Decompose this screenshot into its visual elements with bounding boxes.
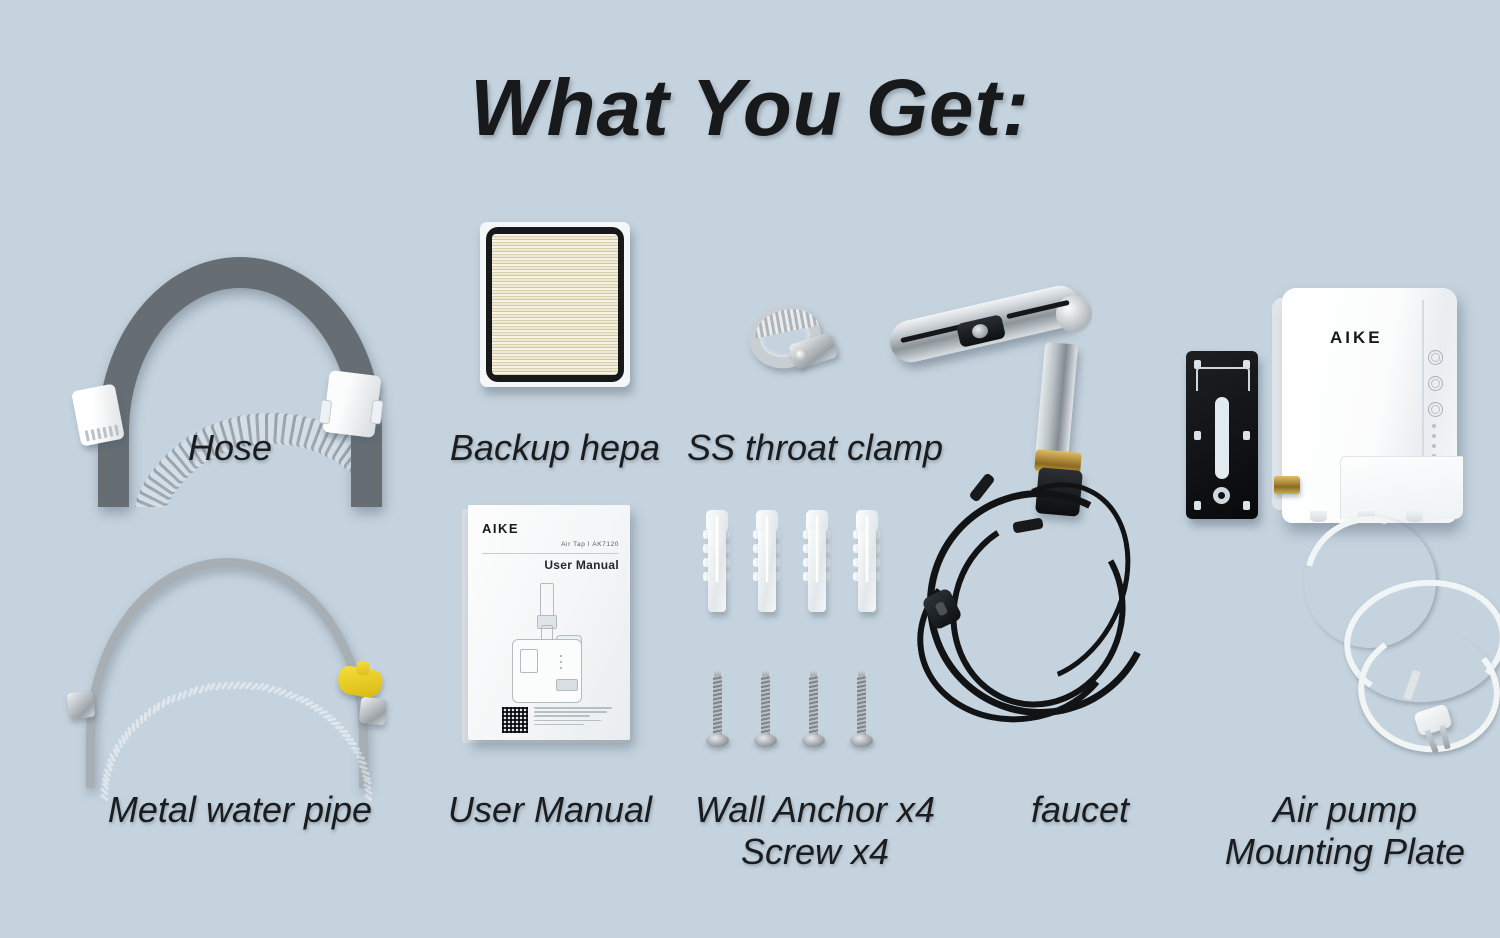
braid-texture — [86, 558, 368, 788]
manual-brand-logo: AIKE — [482, 521, 519, 536]
backup-hepa-image — [480, 222, 630, 387]
wall-anchor — [804, 504, 830, 612]
manual-title: User Manual — [544, 558, 619, 572]
pump-body: AIKE — [1282, 288, 1457, 523]
screw — [706, 670, 728, 758]
metal-water-pipe-image — [60, 540, 410, 740]
manual-cover: AIKE Air Tap I AK7120 User Manual — [468, 505, 630, 740]
label-backup-hepa: Backup hepa — [415, 428, 695, 469]
label-user-manual: User Manual — [430, 790, 670, 831]
fan-speed-icon[interactable] — [1428, 402, 1443, 417]
label-wall-anchor: Wall Anchor x4 — [665, 790, 965, 831]
air-pump-image: AIKE — [1272, 280, 1467, 530]
product-contents-poster: What You Get: Hose Backup hepa SS throat… — [0, 0, 1500, 938]
manual-product-illustration — [494, 583, 606, 695]
label-hose: Hose — [120, 428, 340, 469]
screw — [754, 670, 776, 758]
wall-anchors-image — [700, 500, 900, 618]
manual-qr-code — [502, 707, 528, 733]
pipe-nut-left — [67, 691, 96, 720]
plate-keyhole — [1213, 487, 1230, 504]
air-pump-mounting-plate-image — [1186, 351, 1258, 519]
wall-anchor — [704, 504, 730, 612]
air-pump-power-cord — [1300, 520, 1500, 760]
screws-image — [700, 670, 890, 762]
faucet-stem — [1035, 342, 1078, 462]
pump-brand-logo: AIKE — [1330, 328, 1383, 348]
mode-icon[interactable] — [1428, 376, 1443, 391]
label-screw: Screw x4 — [665, 832, 965, 873]
plate-top-bracket — [1196, 367, 1250, 391]
screw — [802, 670, 824, 758]
cable-tip-1 — [968, 472, 995, 502]
page-title: What You Get: — [0, 62, 1500, 154]
label-air-pump-line1: Air pump — [1195, 790, 1495, 831]
plate-center-slot — [1215, 397, 1229, 479]
hepa-pleats — [492, 234, 618, 375]
faucet-cables — [905, 470, 1185, 770]
manual-divider — [482, 553, 619, 554]
wall-anchor — [854, 504, 880, 612]
pump-filter-door — [1340, 456, 1463, 519]
label-faucet: faucet — [980, 790, 1180, 831]
label-air-pump-line2: Mounting Plate — [1195, 832, 1495, 873]
manual-company-address — [534, 707, 612, 728]
pipe-nut-right — [359, 697, 388, 726]
user-manual-image: AIKE Air Tap I AK7120 User Manual — [462, 505, 632, 745]
manual-model-line: Air Tap I AK7120 — [561, 541, 619, 548]
pump-brass-outlet — [1274, 476, 1300, 494]
hose-image — [60, 235, 420, 435]
power-icon[interactable] — [1428, 350, 1443, 365]
ss-throat-clamp-image — [745, 300, 840, 385]
wall-anchor — [754, 504, 780, 612]
screw — [850, 670, 872, 758]
label-metal-water-pipe: Metal water pipe — [60, 790, 420, 831]
